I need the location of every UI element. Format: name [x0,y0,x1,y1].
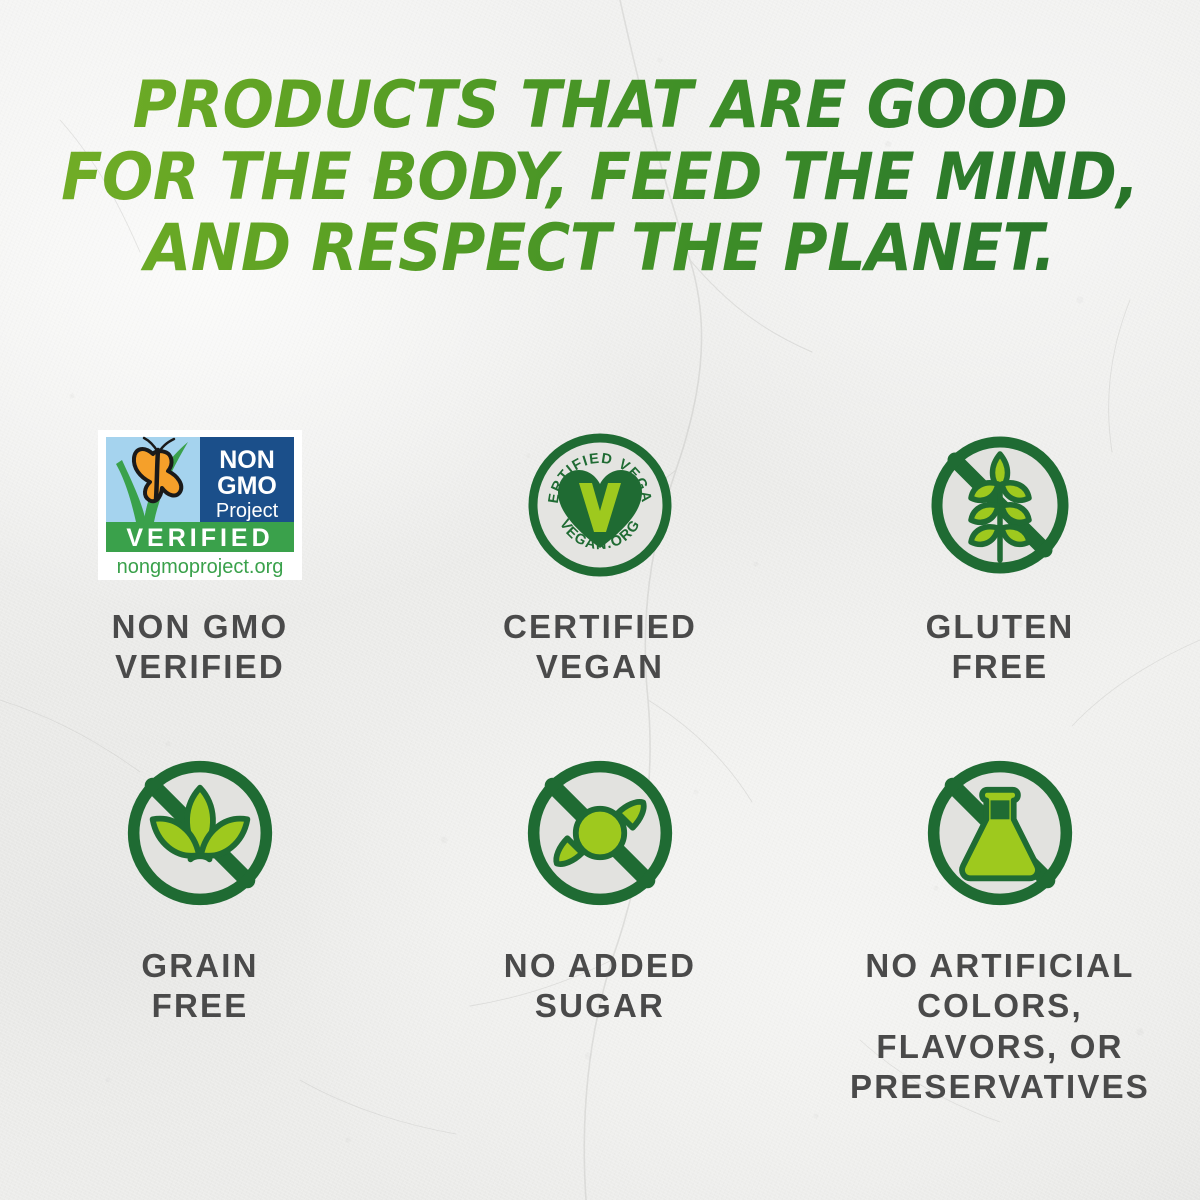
badge-grid: NON GMO Project VERIFIED nongmoproject.o… [0,425,1200,1145]
badge-no-artificial: NO ARTIFICIAL COLORS, FLAVORS, OR PRESER… [800,745,1200,1145]
badge-grain-free: GRAIN FREE [0,745,400,1145]
badge-label-no-added-sugar: NO ADDED SUGAR [504,946,696,1027]
certified-vegan-seal-icon: CERTIFIED VEGAN VEGAN.ORG [526,431,674,579]
badge-label-non-gmo-verified: NON GMO VERIFIED [112,607,289,688]
grain-free-icon-art [121,745,279,920]
no-candy-icon [521,754,679,912]
non-gmo-project-verified-seal-icon: NON GMO Project VERIFIED nongmoproject.o… [98,430,302,580]
badge-label-no-artificial: NO ARTIFICIAL COLORS, FLAVORS, OR PRESER… [850,946,1150,1107]
promo-graphic: PRODUCTS THAT ARE GOOD FOR THE BODY, FEE… [0,0,1200,1200]
seal-text-url: nongmoproject.org [117,556,284,578]
badge-row-2: GRAIN FREE NO ADDED [0,745,1200,1145]
badge-no-added-sugar: NO ADDED SUGAR [400,745,800,1145]
seal-text-non: NON [219,446,275,474]
no-grain-leaves-icon [121,754,279,912]
gluten-free-icon-art [925,425,1075,585]
badge-label-certified-vegan: CERTIFIED VEGAN [503,607,697,688]
no-flask-icon [921,754,1079,912]
badge-non-gmo-verified: NON GMO Project VERIFIED nongmoproject.o… [0,425,400,745]
seal-text-gmo: GMO [217,472,277,500]
no-wheat-icon [925,430,1075,580]
non-gmo-seal-art: NON GMO Project VERIFIED nongmoproject.o… [98,425,302,585]
badge-row-1: NON GMO Project VERIFIED nongmoproject.o… [0,425,1200,745]
badge-gluten-free: GLUTEN FREE [800,425,1200,745]
badge-certified-vegan: CERTIFIED VEGAN VEGAN.ORG CERTIFIED VEGA… [400,425,800,745]
badge-label-grain-free: GRAIN FREE [141,946,258,1027]
seal-text-project: Project [216,500,279,522]
badge-label-gluten-free: GLUTEN FREE [926,607,1075,688]
no-artificial-icon-art [921,745,1079,920]
no-added-sugar-icon-art [521,745,679,920]
certified-vegan-seal-art: CERTIFIED VEGAN VEGAN.ORG [526,425,674,585]
seal-text-verified: VERIFIED [126,524,273,552]
